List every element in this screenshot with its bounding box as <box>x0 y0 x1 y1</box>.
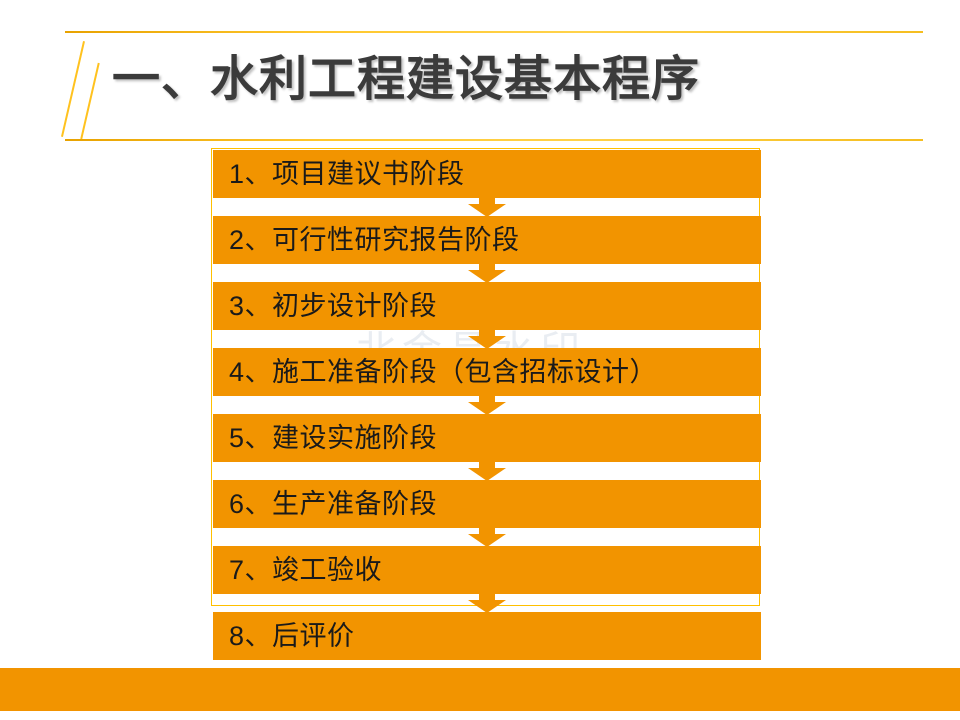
flow-step-label: 2、可行性研究报告阶段 <box>213 227 520 254</box>
flow-step-2[interactable]: 2、可行性研究报告阶段 <box>213 216 761 264</box>
flow-step-label: 6、生产准备阶段 <box>213 491 437 518</box>
flow-step-label: 1、项目建议书阶段 <box>213 161 465 188</box>
flow-step-label: 5、建设实施阶段 <box>213 425 437 452</box>
down-arrow-icon <box>460 395 514 415</box>
page-title: 一、水利工程建设基本程序 <box>112 56 700 104</box>
flow-box[interactable]: 7、竣工验收 <box>213 546 761 594</box>
title-bottom-rule <box>65 139 923 141</box>
title-top-rule <box>65 31 923 33</box>
flow-connector-2 <box>213 264 761 282</box>
flow-box[interactable]: 6、生产准备阶段 <box>213 480 761 528</box>
flow-connector-4 <box>213 396 761 414</box>
flow-box[interactable]: 2、可行性研究报告阶段 <box>213 216 761 264</box>
bottom-accent-bar <box>0 668 960 711</box>
flow-connector-7 <box>213 594 761 612</box>
flow-step-5[interactable]: 5、建设实施阶段 <box>213 414 761 462</box>
decorative-slash-icon-2 <box>80 63 99 139</box>
flow-step-label: 4、施工准备阶段（包含招标设计） <box>213 359 657 386</box>
flow-connector-5 <box>213 462 761 480</box>
flow-step-1[interactable]: 1、项目建议书阶段 <box>213 150 761 198</box>
flow-step-label: 8、后评价 <box>213 623 355 650</box>
flow-box[interactable]: 3、初步设计阶段 <box>213 282 761 330</box>
flow-step-label: 3、初步设计阶段 <box>213 293 437 320</box>
decorative-slash-icon-1 <box>61 41 85 137</box>
flow-step-8[interactable]: 8、后评价 <box>213 612 761 660</box>
flowchart: 1、项目建议书阶段 2、可行性研究报告阶段 3、初步设计阶段 <box>213 150 761 660</box>
flow-connector-3 <box>213 330 761 348</box>
down-arrow-icon <box>460 329 514 349</box>
flow-box[interactable]: 8、后评价 <box>213 612 761 660</box>
flow-connector-1 <box>213 198 761 216</box>
down-arrow-icon <box>460 527 514 547</box>
flow-box[interactable]: 1、项目建议书阶段 <box>213 150 761 198</box>
flow-box[interactable]: 5、建设实施阶段 <box>213 414 761 462</box>
down-arrow-icon <box>460 593 514 613</box>
flow-connector-6 <box>213 528 761 546</box>
slide-canvas: 一、水利工程建设基本程序 北金昌水印 1、项目建议书阶段 2、可行性研究报告阶段 <box>0 0 960 720</box>
flow-step-4[interactable]: 4、施工准备阶段（包含招标设计） <box>213 348 761 396</box>
flow-step-label: 7、竣工验收 <box>213 557 382 584</box>
flow-step-7[interactable]: 7、竣工验收 <box>213 546 761 594</box>
flow-box[interactable]: 4、施工准备阶段（包含招标设计） <box>213 348 761 396</box>
down-arrow-icon <box>460 263 514 283</box>
down-arrow-icon <box>460 197 514 217</box>
flow-step-3[interactable]: 3、初步设计阶段 <box>213 282 761 330</box>
down-arrow-icon <box>460 461 514 481</box>
flow-step-6[interactable]: 6、生产准备阶段 <box>213 480 761 528</box>
